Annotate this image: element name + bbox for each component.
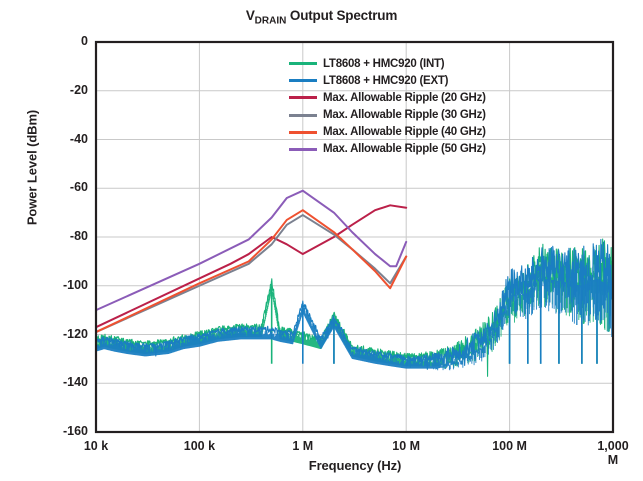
x-tick-label: 10 k	[84, 439, 108, 453]
series-max-allowable-ripple-50-ghz-	[96, 191, 406, 310]
legend-item-label: Max. Allowable Ripple (30 GHz)	[323, 109, 486, 121]
x-tick-label: 10 M	[392, 439, 420, 453]
x-tick-label: 100 M	[492, 439, 527, 453]
x-tick-label: 100 k	[184, 439, 215, 453]
legend-item-label: Max. Allowable Ripple (40 GHz)	[323, 126, 486, 138]
y-tick-label: 0	[28, 34, 88, 48]
legend-item-label: Max. Allowable Ripple (20 GHz)	[323, 92, 486, 104]
y-tick-label: -140	[28, 375, 88, 389]
x-axis-label: Frequency (Hz)	[96, 458, 614, 473]
legend-color-swatch	[289, 114, 317, 117]
y-axis-label: Power Level (dBm)	[25, 73, 40, 263]
legend-item[interactable]: Max. Allowable Ripple (50 GHz)	[289, 142, 486, 157]
legend-color-swatch	[289, 79, 317, 82]
legend-item-label: LT8608 + HMC920 (INT)	[323, 58, 444, 70]
legend-item[interactable]: LT8608 + HMC920 (EXT)	[289, 73, 486, 88]
legend-color-swatch	[289, 96, 317, 99]
chart-figure: VDRAIN Output Spectrum 0-20-40-60-80-100…	[0, 0, 643, 481]
y-tick-label: -120	[28, 327, 88, 341]
y-tick-label: -160	[28, 424, 88, 438]
legend-color-swatch	[289, 131, 317, 134]
legend-item-label: Max. Allowable Ripple (50 GHz)	[323, 143, 486, 155]
series-max-allowable-ripple-20-ghz-	[96, 205, 406, 327]
data-series-layer	[96, 191, 613, 377]
series-max-allowable-ripple-40-ghz-	[96, 210, 406, 332]
x-tick-label: 1 M	[292, 439, 313, 453]
legend-item-label: LT8608 + HMC920 (EXT)	[323, 75, 448, 87]
legend-item[interactable]: Max. Allowable Ripple (30 GHz)	[289, 108, 486, 123]
legend-item[interactable]: Max. Allowable Ripple (20 GHz)	[289, 90, 486, 105]
legend-color-swatch	[289, 148, 317, 151]
legend-color-swatch	[289, 62, 317, 65]
chart-legend: LT8608 + HMC920 (INT)LT8608 + HMC920 (EX…	[289, 56, 486, 157]
legend-item[interactable]: LT8608 + HMC920 (INT)	[289, 56, 486, 71]
series-max-allowable-ripple-30-ghz-	[96, 215, 406, 332]
legend-item[interactable]: Max. Allowable Ripple (40 GHz)	[289, 125, 486, 140]
y-tick-label: -100	[28, 278, 88, 292]
